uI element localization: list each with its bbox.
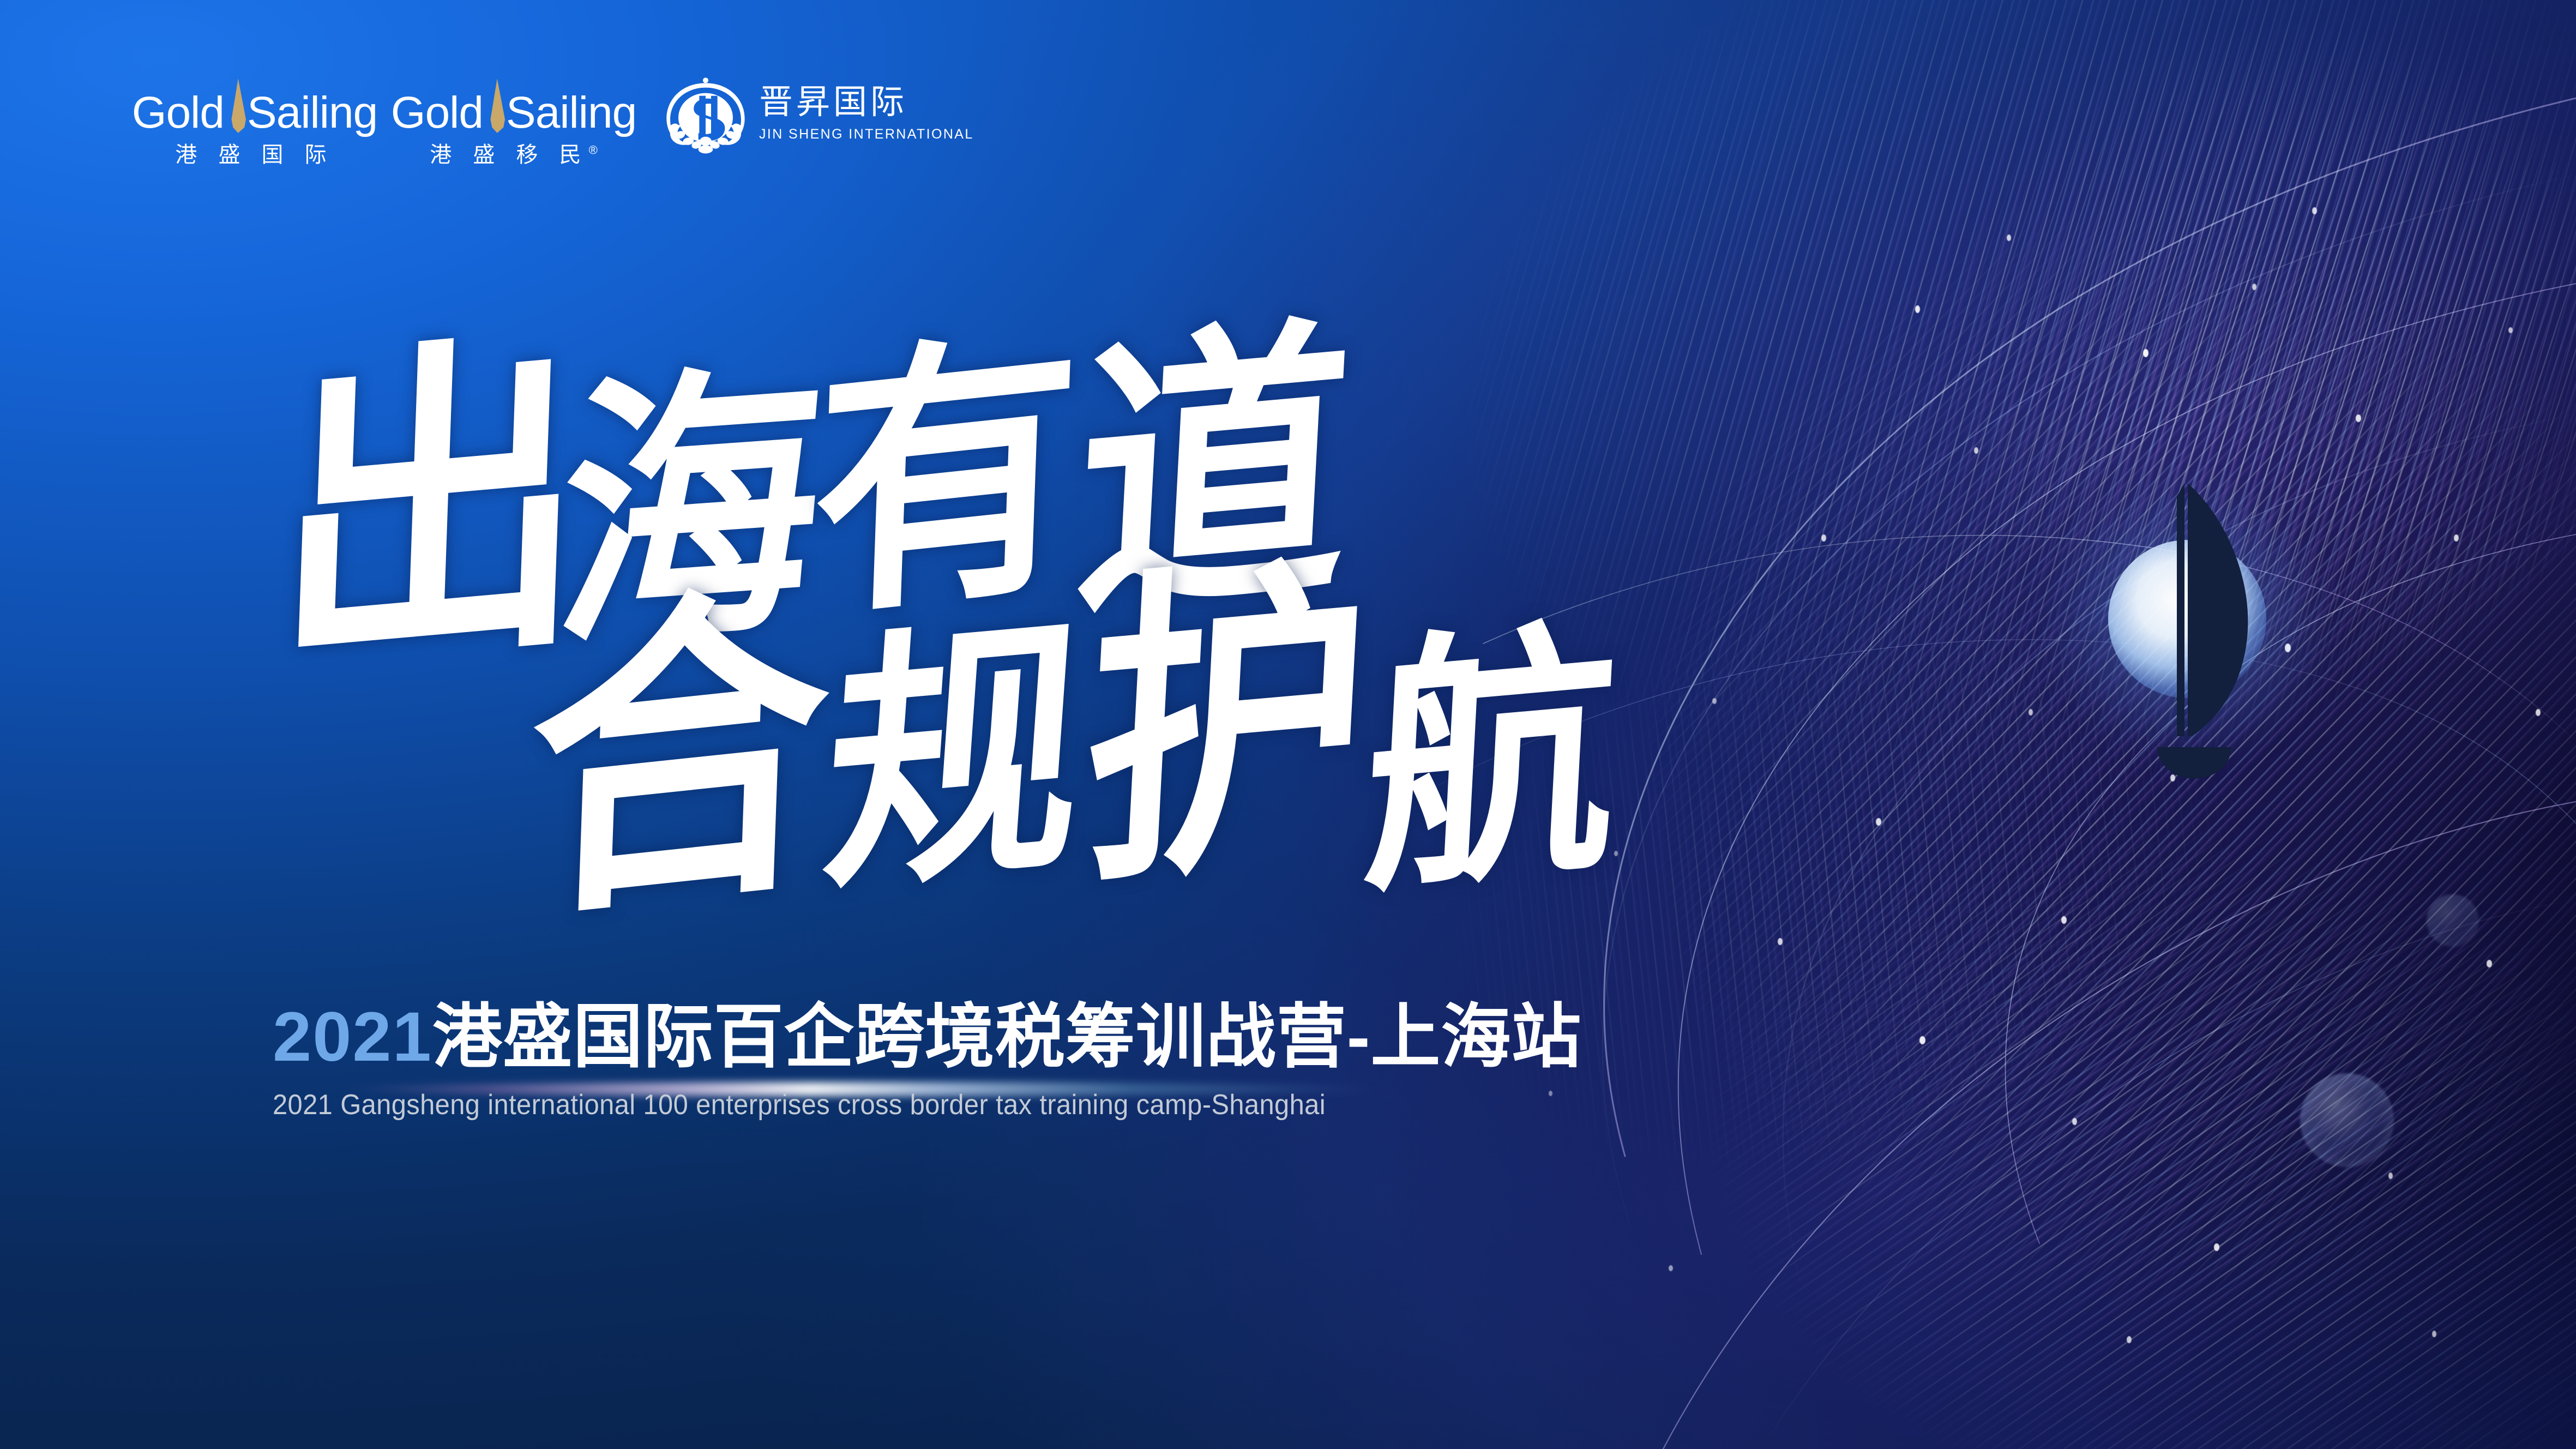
subtitle-year: 2021 (273, 998, 432, 1076)
subtitle-chinese: 港盛国际百企跨境税筹训战营-上海站 (432, 998, 1582, 1076)
logo-gold-sailing-immigration[interactable]: Gold Sailing 港 盛 移 民® (383, 71, 645, 166)
sail-icon (227, 79, 246, 135)
logo-gold-sailing-international[interactable]: Gold Sailing 港 盛 国 际 (127, 71, 383, 166)
logo1-chinese: 港 盛 国 际 (127, 144, 383, 166)
logo2-chinese-text: 港 盛 移 民 (430, 143, 588, 167)
logo2-latin-gold: Gold (391, 91, 483, 135)
subtitle-block: 2021港盛国际百企跨境税筹训战营-上海站 2021 Gangsheng int… (273, 1002, 2018, 1119)
light-bubble-small (2427, 894, 2479, 947)
moon-sailboat-artwork (2029, 464, 2367, 802)
logo2-chinese: 港 盛 移 民® (383, 144, 645, 166)
calligraphy-char-gui: 规 (817, 610, 1092, 906)
subtitle-english: 2021 Gangsheng international 100 enterpr… (273, 1091, 1913, 1119)
subtitle-chinese-line: 2021港盛国际百企跨境税筹训战营-上海站 (273, 1002, 2018, 1072)
sailboat-icon (2029, 464, 2367, 802)
promo-banner: Gold Sailing 港 盛 国 际 Gold Sailing 港 盛 移 … (0, 0, 2576, 1449)
light-bubble (2300, 1073, 2394, 1167)
logo3-english: JIN SHENG INTERNATIONAL (759, 127, 974, 142)
logo1-latin-gold: Gold (132, 91, 224, 135)
logo2-latin-sailing: Sailing (506, 91, 636, 135)
sail-icon (486, 79, 505, 135)
calligraphy-char-he: 合 (523, 576, 834, 935)
logo1-latin-sailing: Sailing (247, 91, 377, 135)
calligraphy-char-hang: 航 (1360, 616, 1623, 905)
calligraphy-char-hu: 护 (1077, 550, 1376, 900)
registered-mark-icon: ® (589, 143, 598, 157)
hero-calligraphy: 出 海 有 道 合 规 护 航 (251, 305, 1723, 1014)
logo-jin-sheng-international[interactable]: 晋昇国际 JIN SHENG INTERNATIONAL (660, 73, 974, 155)
calligraphy-line-2: 合 规 护 航 (251, 562, 1723, 954)
laurel-crest-icon (660, 73, 751, 155)
logo3-chinese: 晋昇国际 (759, 86, 974, 119)
logo-bar: Gold Sailing 港 盛 国 际 Gold Sailing 港 盛 移 … (127, 71, 974, 166)
